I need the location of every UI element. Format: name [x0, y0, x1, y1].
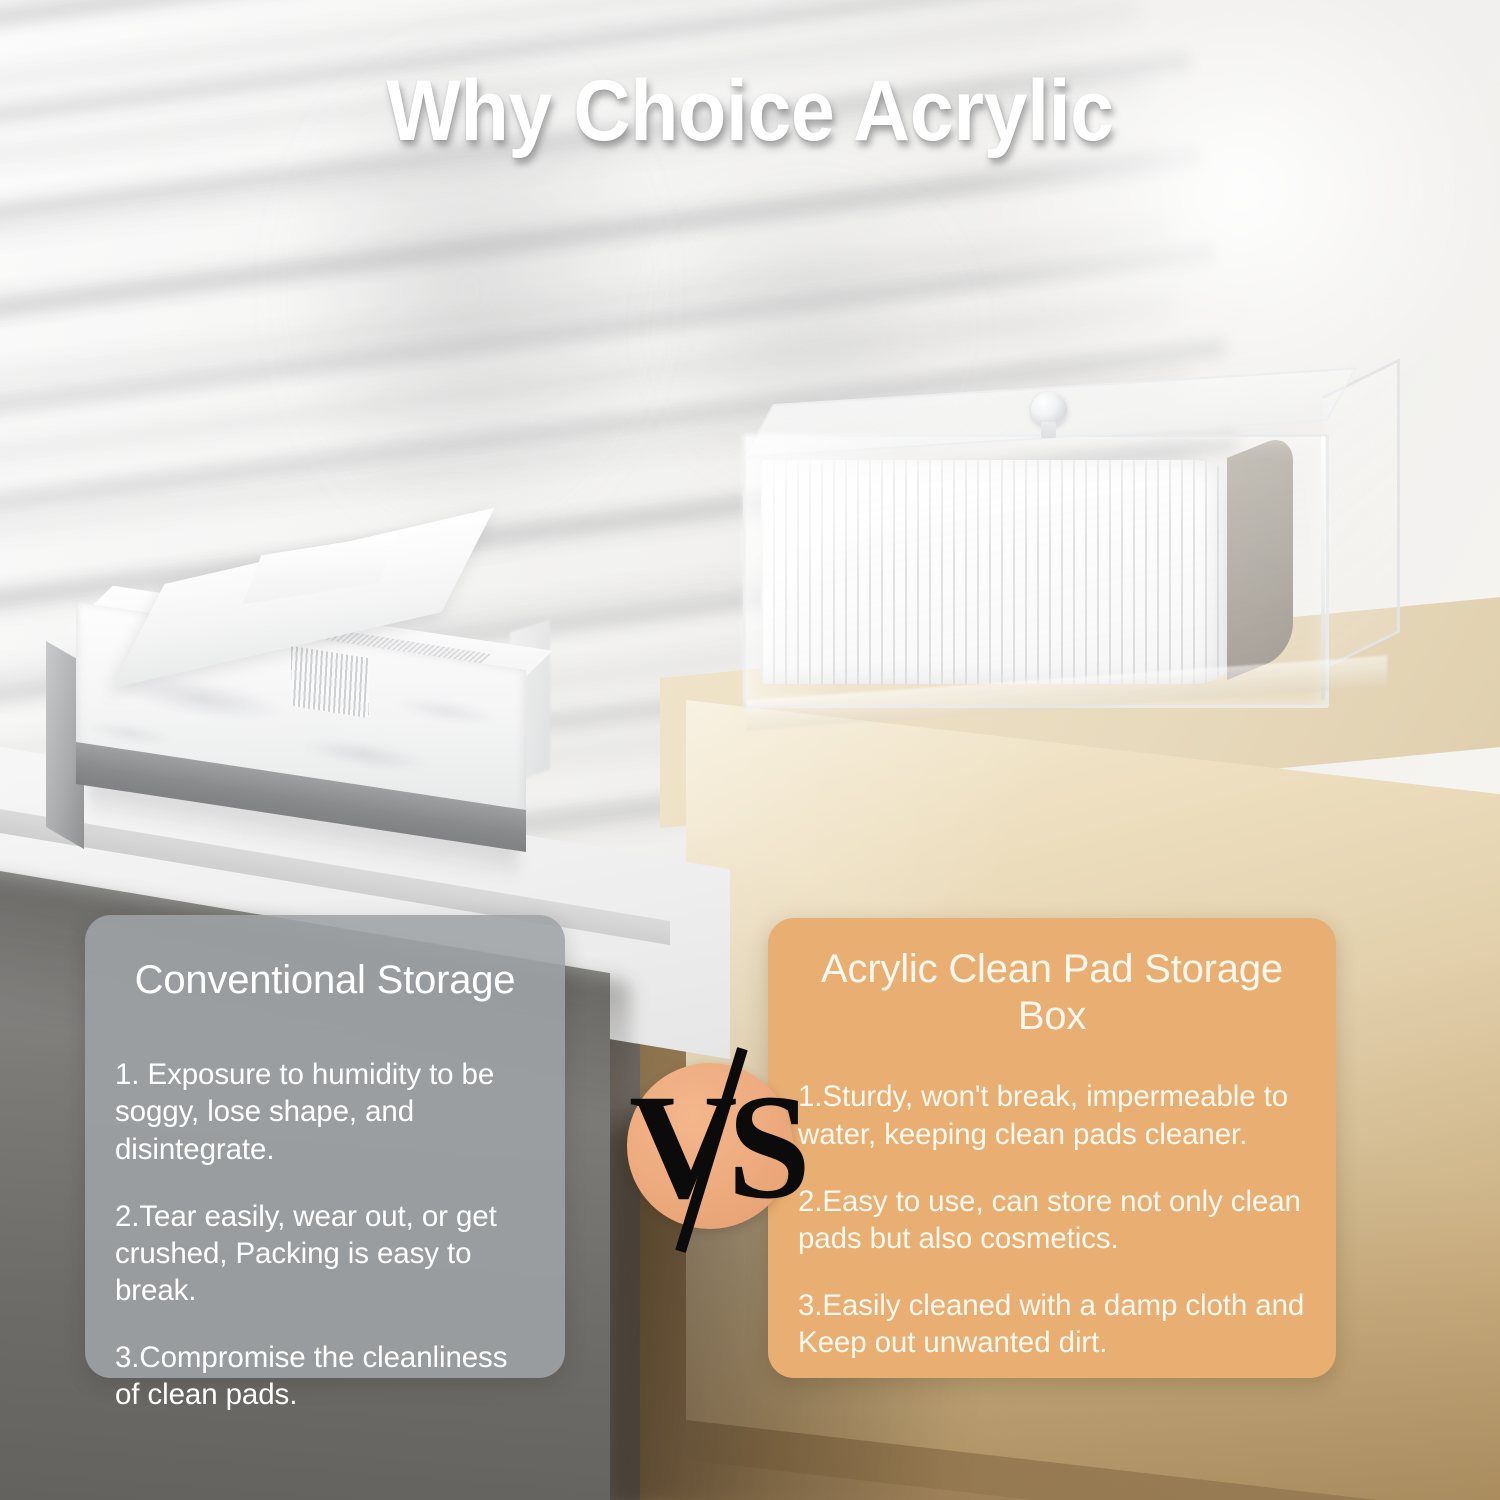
list-item: 3.Easily cleaned with a damp cloth and K… — [798, 1287, 1306, 1361]
list-item: 1.Sturdy, won't break, impermeable to wa… — [798, 1078, 1306, 1152]
page-title: Why Choice Acrylic — [60, 62, 1440, 161]
conventional-storage-bullet-list: 1. Exposure to humidity to be soggy, los… — [115, 1056, 535, 1413]
product-infographic: Why Choice Acrylic Conventional Storage … — [0, 0, 1500, 1500]
list-item: 2.Tear easily, wear out, or get crushed,… — [115, 1198, 535, 1309]
paper-box-protruding-tissue — [291, 646, 369, 718]
acrylic-storage-card-title: Acrylic Clean Pad Storage Box — [798, 918, 1306, 1040]
list-item: 3.Compromise the cleanliness of clean pa… — [115, 1339, 535, 1413]
list-item: 1. Exposure to humidity to be soggy, los… — [115, 1056, 535, 1167]
acrylic-box-highlight — [743, 434, 893, 702]
conventional-storage-card: Conventional Storage 1. Exposure to humi… — [85, 915, 565, 1378]
conventional-paper-box-photo — [38, 540, 558, 870]
acrylic-storage-card: Acrylic Clean Pad Storage Box 1.Sturdy, … — [768, 918, 1336, 1378]
acrylic-box-lid-knob — [1031, 392, 1067, 426]
conventional-storage-card-title: Conventional Storage — [115, 915, 535, 1004]
acrylic-storage-box-photo — [735, 392, 1415, 722]
list-item: 2.Easy to use, can store not only clean … — [798, 1183, 1306, 1257]
acrylic-storage-bullet-list: 1.Sturdy, won't break, impermeable to wa… — [798, 1078, 1306, 1361]
